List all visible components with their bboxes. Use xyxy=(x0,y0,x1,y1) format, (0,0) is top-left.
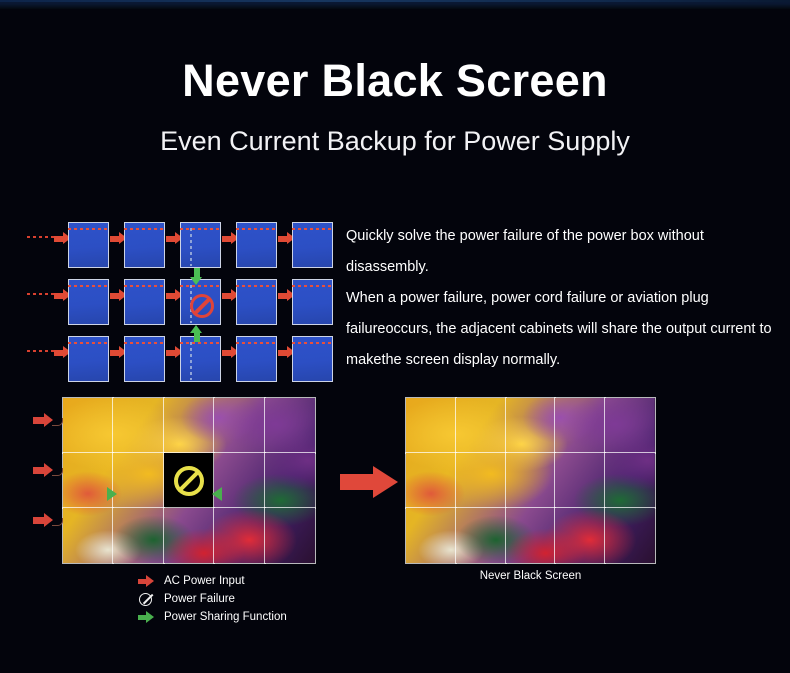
cabinet-panel xyxy=(292,336,333,382)
page-subtitle: Even Current Backup for Power Supply xyxy=(0,126,790,157)
power-sharing-arrow-down-icon xyxy=(190,268,203,285)
cabinet-panel xyxy=(68,222,109,268)
ac-bus-line xyxy=(68,228,109,230)
wall-cell xyxy=(406,508,456,563)
legend-item-power-failure: Power Failure xyxy=(137,590,367,608)
cabinet-panel-failed xyxy=(180,279,221,325)
cabinet-panel xyxy=(68,279,109,325)
ac-bus-line xyxy=(124,342,165,344)
wall-cell xyxy=(506,398,556,453)
wall-cell xyxy=(113,508,163,563)
ac-power-input-arrow-icon xyxy=(33,412,63,428)
ac-bus-line xyxy=(68,285,109,287)
description-paragraph-2: When a power failure, power cord failure… xyxy=(346,283,776,376)
wall-cell xyxy=(63,453,113,508)
ac-feed-dotted-line xyxy=(27,350,55,352)
display-wall-recovered xyxy=(406,398,655,563)
cabinet-panel xyxy=(124,279,165,325)
power-branch-line xyxy=(190,342,192,380)
wall-cell xyxy=(506,508,556,563)
ac-bus-line xyxy=(68,342,109,344)
ac-bus-line xyxy=(292,228,333,230)
wall-cell xyxy=(605,398,655,453)
wall-cell xyxy=(214,398,264,453)
wall-cell xyxy=(265,453,315,508)
wall-cell xyxy=(605,453,655,508)
prohibition-icon xyxy=(137,592,159,606)
power-sharing-arrow-up-icon xyxy=(190,325,203,342)
red-arrow-icon xyxy=(137,574,159,588)
cabinet-panel xyxy=(180,336,221,382)
ac-bus-line xyxy=(180,342,221,344)
transition-arrow-icon xyxy=(340,466,398,498)
wall-cell xyxy=(406,453,456,508)
cabinet-row xyxy=(24,222,329,268)
wall-cell xyxy=(406,398,456,453)
cabinet-panel xyxy=(236,279,277,325)
ac-power-input-arrow-icon xyxy=(33,512,63,528)
wall-cell xyxy=(506,453,556,508)
wall-cell-failed xyxy=(164,453,214,508)
wall-cell xyxy=(214,508,264,563)
ac-feed-dotted-line xyxy=(27,236,55,238)
wall-cell xyxy=(456,508,506,563)
ac-bus-line xyxy=(236,285,277,287)
cabinet-panel xyxy=(124,336,165,382)
cabinet-panel xyxy=(292,222,333,268)
wall-cell xyxy=(265,398,315,453)
legend-item-power-sharing: Power Sharing Function xyxy=(137,608,367,626)
display-wall-with-failure xyxy=(63,398,315,563)
description-text: Quickly solve the power failure of the p… xyxy=(346,221,776,376)
wall-cell xyxy=(265,508,315,563)
ac-bus-line xyxy=(236,228,277,230)
wall-cell xyxy=(164,508,214,563)
cabinet-row xyxy=(24,336,329,382)
wall-cell xyxy=(456,453,506,508)
ac-bus-line xyxy=(180,228,221,230)
cabinet-panel xyxy=(68,336,109,382)
ac-bus-line xyxy=(180,285,221,287)
legend-label: Power Sharing Function xyxy=(164,611,287,623)
wall-caption: Never Black Screen xyxy=(406,570,655,582)
ac-bus-line xyxy=(292,285,333,287)
page-title: Never Black Screen xyxy=(0,55,790,107)
power-sharing-arrow-icon xyxy=(212,487,222,501)
ac-bus-line xyxy=(236,342,277,344)
wall-cell xyxy=(605,508,655,563)
cabinet-row xyxy=(24,279,329,325)
wall-cell xyxy=(456,398,506,453)
ac-bus-line xyxy=(124,228,165,230)
green-arrow-icon xyxy=(137,610,159,624)
cabinet-panel xyxy=(292,279,333,325)
cabinet-panel xyxy=(180,222,221,268)
top-accent-strip xyxy=(0,0,790,9)
ac-power-input-arrow-icon xyxy=(33,462,63,478)
legend-label: AC Power Input xyxy=(164,575,245,587)
cabinet-power-chain-diagram xyxy=(24,222,329,382)
wall-cell xyxy=(555,508,605,563)
power-branch-line xyxy=(190,228,192,266)
ac-feed-dotted-line xyxy=(27,293,55,295)
cabinet-panel xyxy=(236,222,277,268)
wall-cell xyxy=(63,398,113,453)
legend-item-ac-power-input: AC Power Input xyxy=(137,572,367,590)
ac-bus-line xyxy=(124,285,165,287)
wall-cell xyxy=(164,398,214,453)
power-failure-icon xyxy=(190,294,214,318)
cabinet-panel xyxy=(124,222,165,268)
wall-cell xyxy=(113,453,163,508)
description-paragraph-1: Quickly solve the power failure of the p… xyxy=(346,221,776,283)
wall-cell xyxy=(555,453,605,508)
wall-cell xyxy=(113,398,163,453)
wall-cell xyxy=(63,508,113,563)
legend: AC Power Input Power Failure Power Shari… xyxy=(137,572,367,626)
wall-cell xyxy=(555,398,605,453)
cabinet-panel xyxy=(236,336,277,382)
ac-bus-line xyxy=(292,342,333,344)
power-failure-icon xyxy=(174,466,204,496)
legend-label: Power Failure xyxy=(164,593,235,605)
power-sharing-arrow-icon xyxy=(107,487,117,501)
